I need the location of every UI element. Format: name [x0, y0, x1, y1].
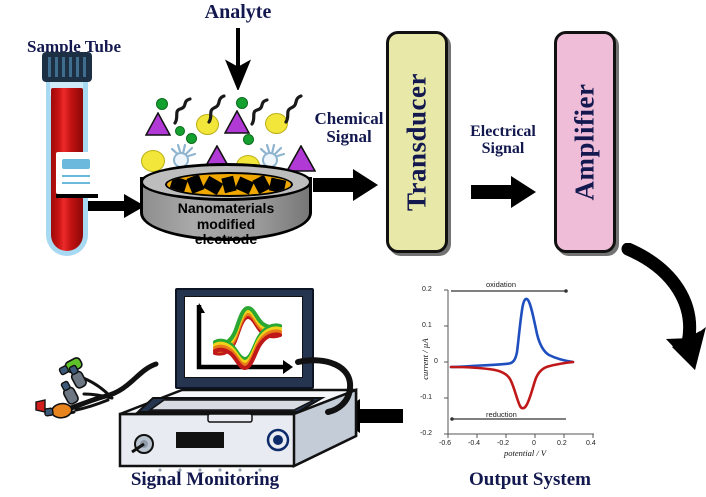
tube-label-sticker [56, 152, 98, 194]
chart-xtick: 0 [532, 440, 536, 447]
transducer-label: Transducer [402, 73, 433, 211]
chart-xtick: -0.2 [497, 440, 509, 447]
clip-red [36, 400, 45, 412]
particle-squiggle [206, 94, 228, 124]
particle-squiggle [249, 98, 271, 126]
arrow-chemical-signal-icon [313, 168, 379, 202]
tube-cap [42, 52, 92, 82]
chart-xtick: 0.4 [586, 440, 596, 447]
electrode-lead-cables[interactable] [34, 356, 174, 456]
particle-squiggle [283, 94, 305, 124]
particle-green-circle [156, 98, 168, 110]
chart-xtick: 0.2 [557, 440, 567, 447]
chart-xtick: -0.4 [468, 440, 480, 447]
chart-ytick: 0 [434, 358, 438, 365]
chart-ytick: -0.1 [420, 394, 432, 401]
amplifier-box[interactable]: Amplifier [554, 31, 616, 253]
particle-green-circle [175, 126, 185, 136]
particle-purple-triangle [145, 112, 171, 136]
particle-green-circle [236, 97, 248, 109]
cv-plot-svg [408, 282, 598, 464]
chart-annotation-reduction: reduction [486, 410, 517, 419]
particle-green-circle [243, 134, 254, 145]
monitor-cv-trace-icon [185, 297, 302, 377]
output-system-label: Output System [455, 470, 605, 490]
arrow-tube-to-electrode-icon [88, 192, 146, 220]
output-system-chart: 0.2 0.1 0 -0.1 -0.2 -0.6 -0.4 -0.2 0 0.2… [408, 282, 598, 464]
chart-xlabel: potential / V [504, 448, 546, 458]
diagram-canvas: Analyte Sample Tube [0, 0, 706, 497]
chart-annotation-oxidation: oxidation [486, 280, 516, 289]
electrical-signal-label: Electrical Signal [455, 124, 551, 158]
clip-orange [44, 402, 73, 420]
amplifier-label: Amplifier [570, 84, 601, 201]
monitor-screen [184, 296, 303, 378]
chart-xtick: -0.6 [439, 440, 451, 447]
arrow-electrical-signal-icon [471, 175, 537, 209]
electrode-top-disc [140, 163, 312, 201]
chart-ytick: 0.2 [422, 286, 432, 293]
signal-monitoring-label: Signal Monitoring [110, 470, 300, 490]
signal-monitoring-device[interactable] [20, 278, 360, 478]
chart-ylabel: current / µA [420, 324, 430, 394]
arrow-amplifier-to-output-icon [596, 243, 706, 378]
electrode-active-well [165, 172, 293, 197]
sample-tube [38, 52, 96, 257]
nanomaterial-electrode: Nanomaterials modified electrode [140, 163, 312, 255]
analyte-arrow-icon [222, 28, 254, 90]
analyte-label: Analyte [184, 2, 292, 23]
electrode-caption: Nanomaterials modified electrode [140, 201, 312, 248]
chart-ytick: -0.2 [420, 430, 432, 437]
transducer-box[interactable]: Transducer [386, 31, 448, 253]
particle-squiggle [172, 97, 194, 125]
chemical-signal-label: Chemical Signal [306, 110, 392, 146]
rear-cable [292, 356, 360, 418]
